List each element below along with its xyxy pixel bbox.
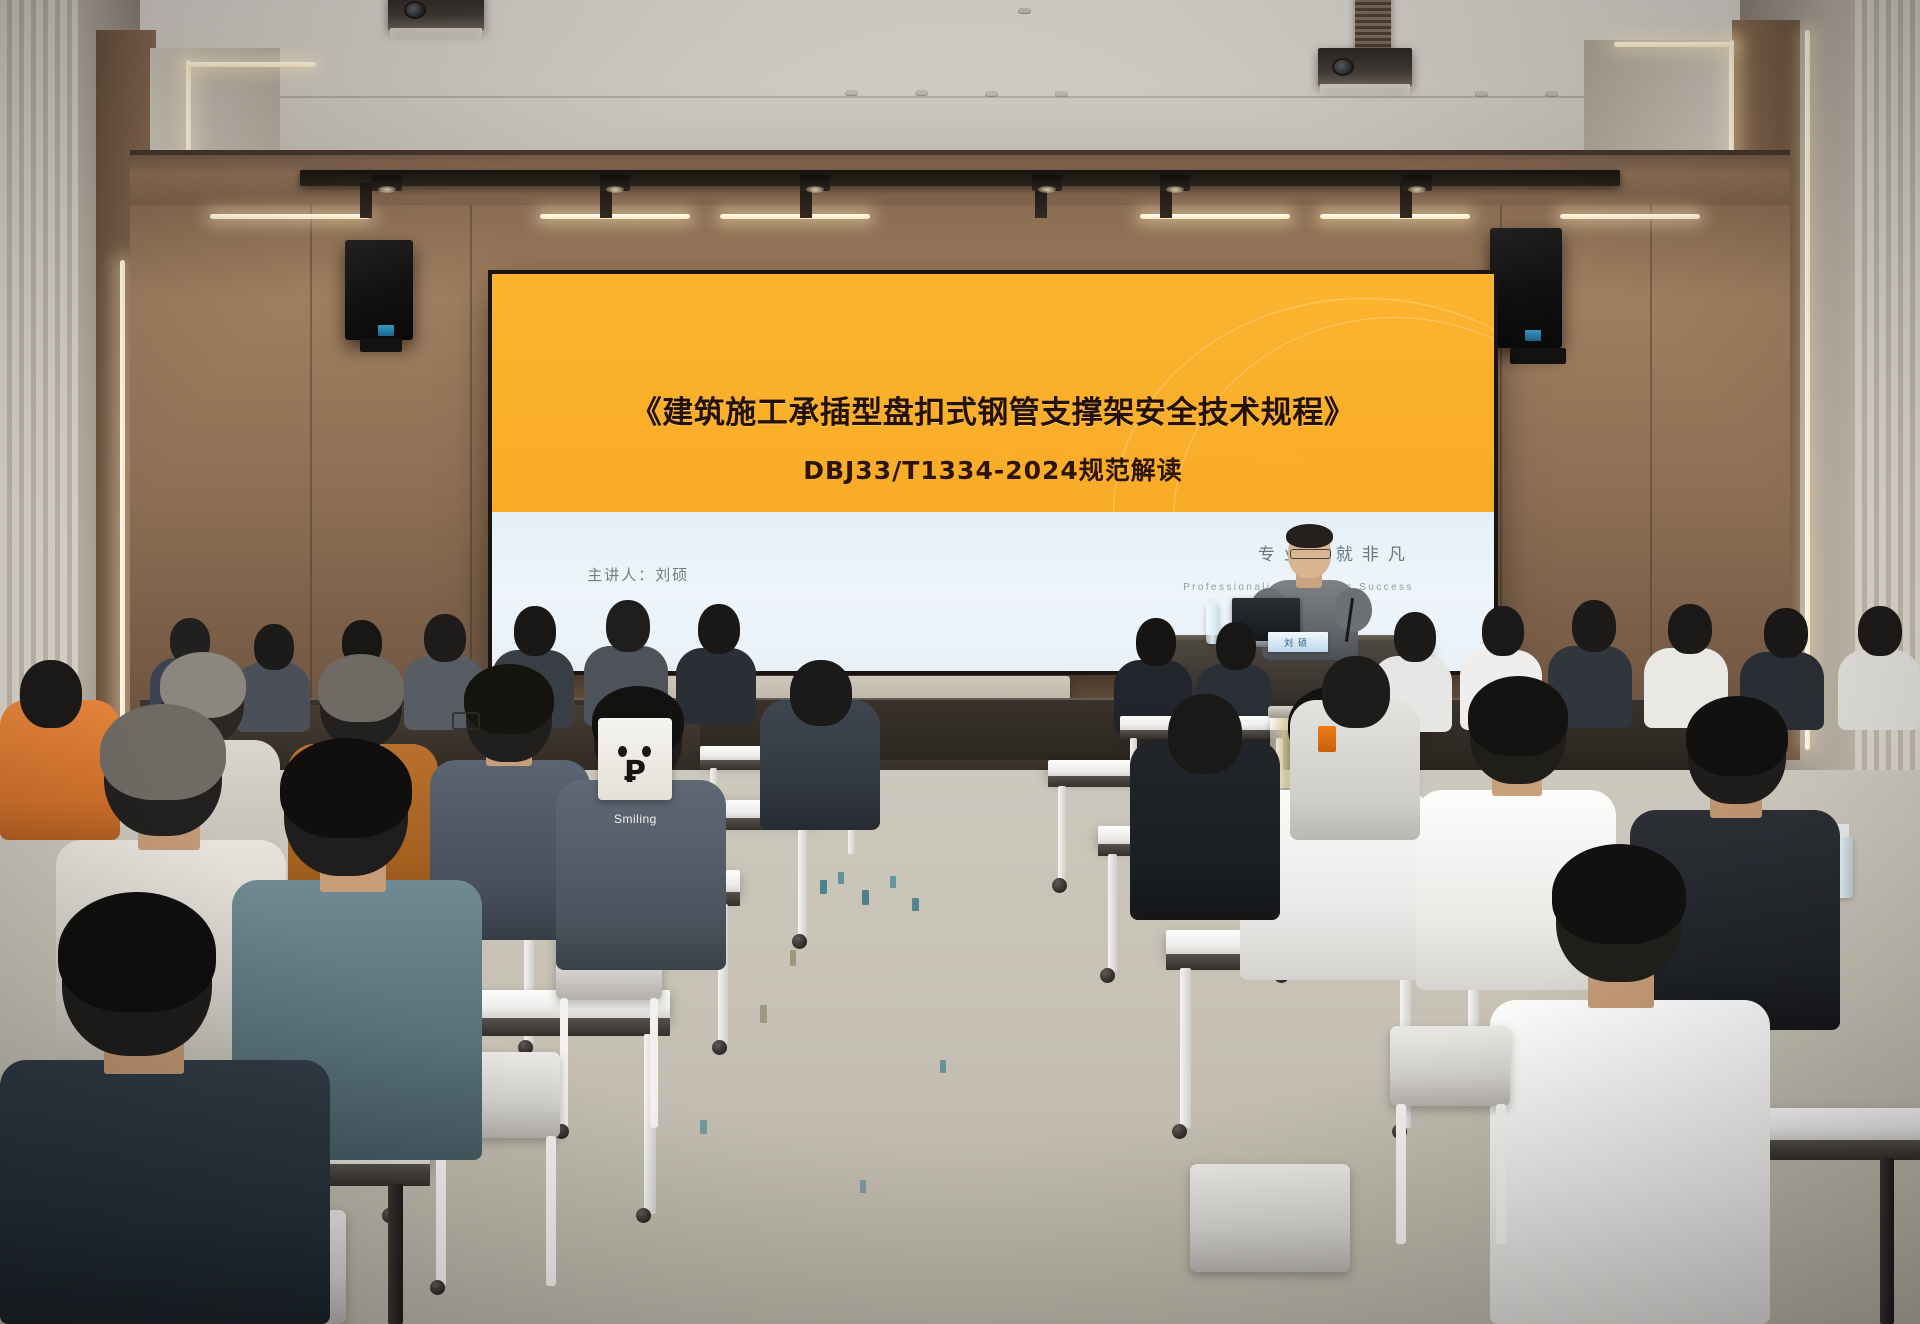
attendee-head [1168, 694, 1242, 774]
chair-caster [430, 1280, 445, 1295]
ceiling-sprinkler [1545, 91, 1558, 97]
carpet-fleck [940, 1060, 946, 1073]
slide-slogan-cn: 专业成就非凡 [1258, 540, 1414, 565]
ceiling-projector [388, 0, 484, 30]
desk-leg [1180, 968, 1191, 1128]
led-strip-light [210, 214, 370, 219]
truss-drop-rod [360, 182, 372, 218]
desk-leg [1880, 1158, 1894, 1324]
speaker-brand-logo [1525, 330, 1541, 341]
carpet-fleck [912, 898, 919, 911]
chair-frame [546, 1136, 556, 1286]
attendee-head [514, 606, 556, 656]
carpet-fleck [890, 876, 896, 888]
attendee-head [1764, 608, 1808, 658]
projector-lens-icon [1332, 58, 1354, 76]
carpet-fleck [838, 872, 844, 884]
attendee-torso [1838, 650, 1920, 730]
attendee-torso [676, 648, 756, 724]
attendee-glasses-icon [452, 712, 480, 730]
presenter-hair [1286, 524, 1333, 548]
presenter-glasses-icon [1290, 549, 1331, 559]
attendee-hair [58, 892, 216, 1012]
attendee-torso [556, 780, 726, 970]
desk-caster [792, 934, 807, 949]
truss-spotlight [372, 175, 402, 191]
wood-panel-seam [1650, 205, 1652, 725]
led-strip-light [720, 214, 870, 219]
chair-frame [650, 998, 658, 1128]
wood-panel-seam [470, 205, 472, 725]
attendee-torso [236, 662, 310, 732]
attendee-hair [1686, 696, 1788, 776]
soffit-edge [130, 150, 1790, 155]
attendee-hair [280, 738, 412, 838]
truss-spotlight [800, 175, 830, 191]
attendee-head [1216, 622, 1256, 670]
desk-caster [712, 1040, 727, 1055]
slide-title: 《建筑施工承插型盘扣式钢管支撑架安全技术规程》 [492, 387, 1494, 432]
led-strip-light [1614, 42, 1734, 47]
carpet-fleck [820, 880, 827, 894]
truss-spotlight [1160, 175, 1190, 191]
slide-presenter-label: 主讲人：刘硕 [587, 564, 689, 585]
carpet-fleck [700, 1120, 707, 1134]
projector-glow [390, 28, 482, 40]
truss-spotlight [1032, 175, 1062, 191]
speaker-brand-logo [378, 325, 394, 336]
chair-backrest [1190, 1164, 1350, 1272]
attendee-head [606, 600, 650, 652]
nameplate-text: 刘硕 [1268, 636, 1328, 649]
speaker-mount-bracket [360, 338, 402, 352]
projector-lens-icon [404, 1, 426, 19]
attendee-torso [0, 1060, 330, 1324]
attendee-head [1858, 606, 1902, 656]
chair-frame [1496, 1104, 1506, 1244]
attendee-head [1136, 618, 1176, 666]
truss-spotlight [1402, 175, 1432, 191]
left-wall-fluted-panel [0, 0, 78, 760]
desk-caster [1052, 878, 1067, 893]
attendee-head [698, 604, 740, 654]
chair-frame [560, 998, 568, 1128]
attendee-head [1394, 612, 1436, 662]
ceiling-sprinkler [915, 90, 928, 96]
desk-caster [636, 1208, 651, 1223]
led-strip-light [1320, 214, 1470, 219]
carpet-fleck [790, 950, 796, 966]
attendee-head [254, 624, 294, 670]
chair-backrest [1390, 1026, 1510, 1106]
chair-frame [1396, 1104, 1406, 1244]
desk-leg [1058, 786, 1066, 881]
carpet-fleck [862, 890, 869, 905]
desk-leg [798, 828, 807, 938]
attendee-head [1668, 604, 1712, 654]
speaker-mount-bracket [1510, 348, 1566, 364]
desk-leg [388, 1184, 403, 1324]
ceiling-sprinkler [845, 90, 858, 96]
attendee-head [1482, 606, 1524, 656]
attendee-hair [318, 654, 404, 722]
ceiling-sprinkler [985, 91, 998, 97]
attendee-hair [1468, 676, 1568, 756]
ceiling-sprinkler [1018, 8, 1031, 14]
led-strip-light [540, 214, 690, 219]
led-strip-light [186, 62, 316, 67]
attendee-hair [1552, 844, 1686, 944]
ceiling-sprinkler [1475, 91, 1488, 97]
attendee-hair [100, 704, 226, 800]
wood-panel-seam [310, 205, 312, 725]
bottle-cap [1208, 598, 1217, 605]
ceiling-sprinkler [1055, 91, 1068, 97]
attendee-head [790, 660, 852, 726]
desk-caster [1172, 1124, 1187, 1139]
bag-face-mouth-icon: Ꝑ [624, 758, 646, 788]
attendee-head [424, 614, 466, 662]
attendee-torso [1490, 1000, 1770, 1324]
attendee-head [1322, 656, 1390, 728]
carpet-fleck [860, 1180, 866, 1193]
slide-subtitle: DBJ33/T1334-2024规范解读 [492, 451, 1494, 487]
carpet-fleck [760, 1005, 767, 1023]
led-strip-light [120, 260, 125, 730]
desk-caster [1100, 968, 1115, 983]
seminar-room-photo: 《建筑施工承插型盘扣式钢管支撑架安全技术规程》 DBJ33/T1334-2024… [0, 0, 1920, 1324]
lanyard-badge [1318, 726, 1336, 752]
bag-text: Smiling [614, 812, 657, 826]
attendee-head [20, 660, 82, 728]
projector-glow [1320, 84, 1410, 96]
truss-spotlight [600, 175, 630, 191]
attendee-head [1572, 600, 1616, 652]
led-strip-light [1560, 214, 1700, 219]
desk-leg [1108, 854, 1117, 972]
